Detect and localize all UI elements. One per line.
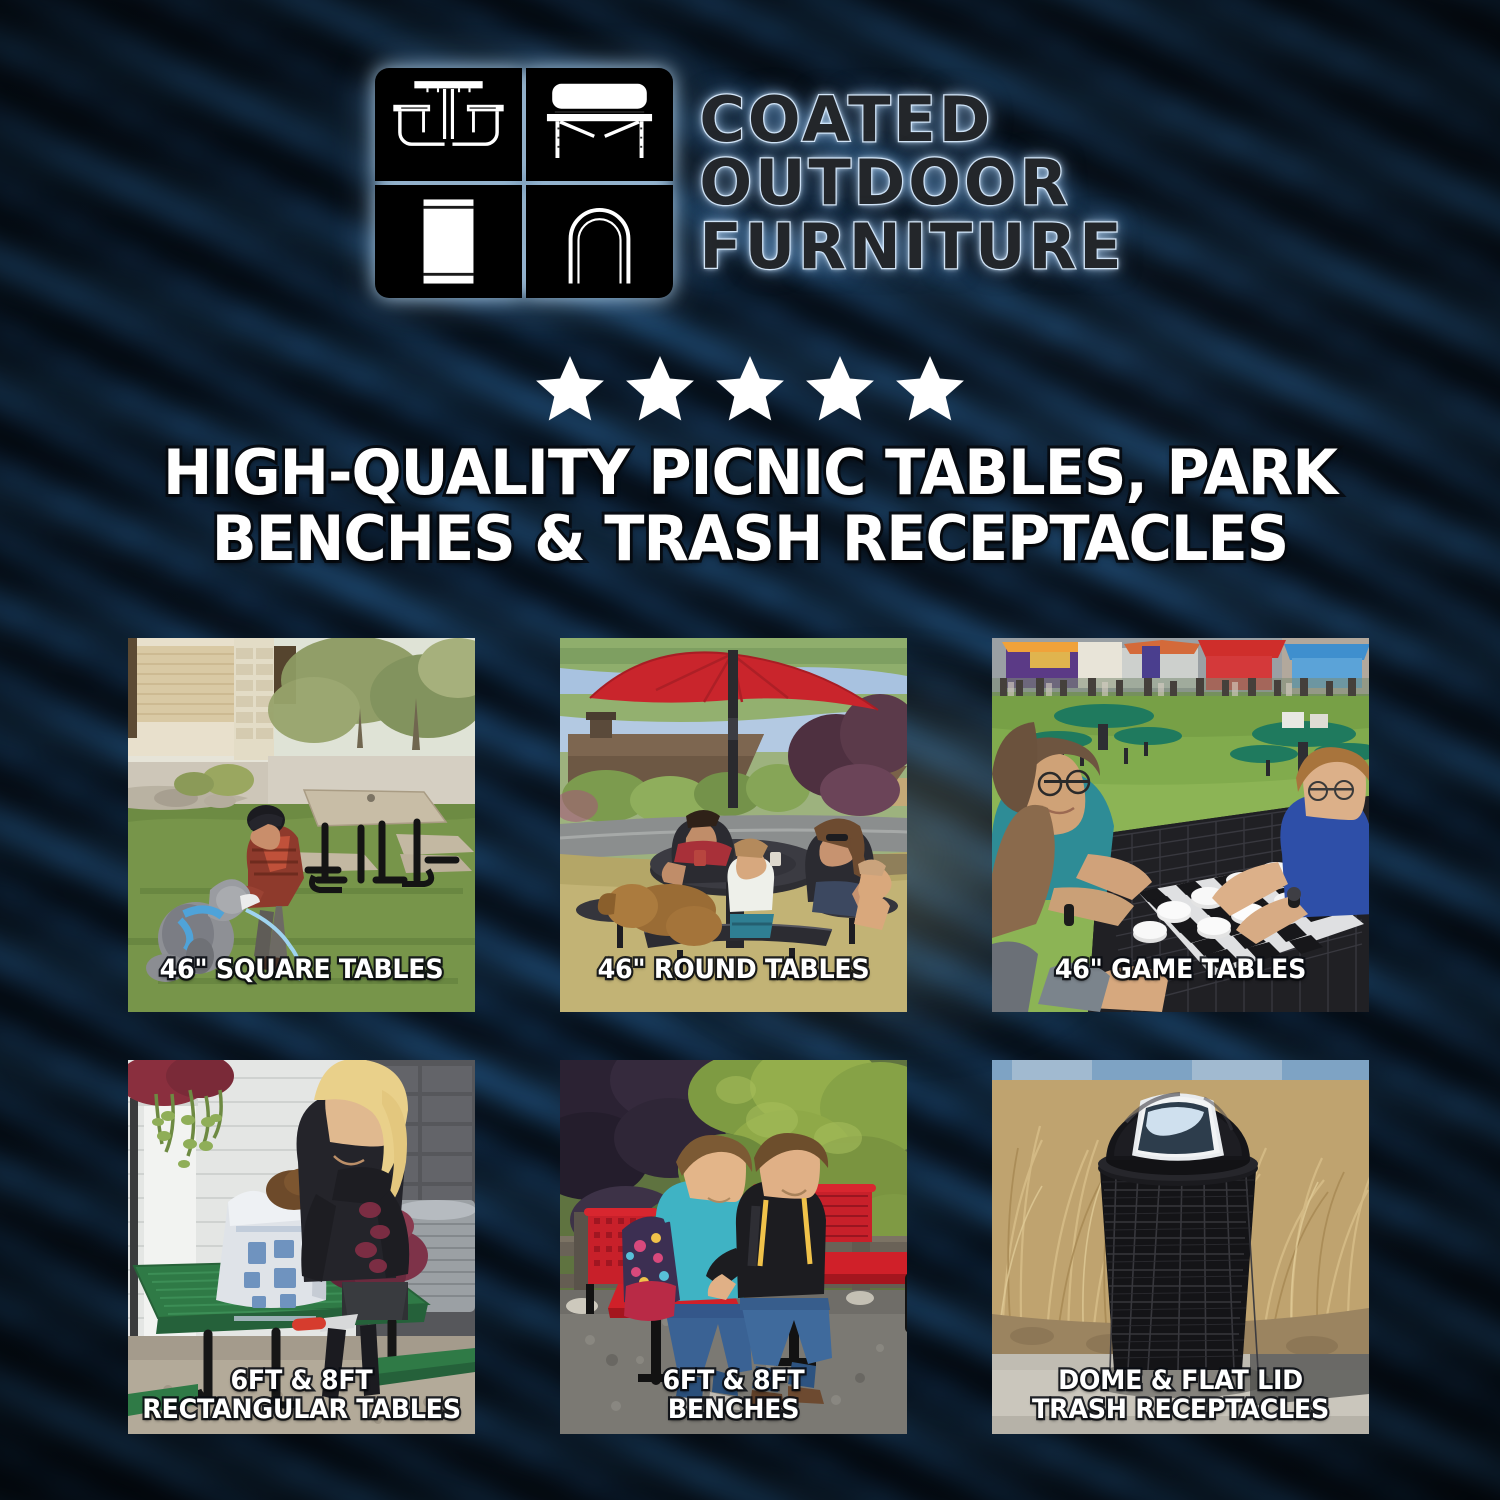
product-tile-trash-receptacles[interactable]: DOME & FLAT LID TRASH RECEPTACLES [992, 1060, 1369, 1434]
tile-caption: DOME & FLAT LID TRASH RECEPTACLES [1003, 1366, 1357, 1424]
headline-line-1: HIGH-QUALITY PICNIC TABLES, PARK [38, 440, 1463, 506]
brand-logo: COATED OUTDOOR FURNITURE [0, 68, 1500, 298]
tile-caption-line-1: 6FT & 8FT [231, 1365, 373, 1396]
product-tile-grid: 46" SQUARE TABLES [128, 638, 1372, 1434]
star-rating [0, 352, 1500, 426]
tile-caption-line-2: BENCHES [668, 1394, 799, 1425]
tile-caption: 6FT & 8FT RECTANGULAR TABLES [138, 1366, 464, 1424]
park-bench-icon [526, 68, 673, 181]
brand-line-3: FURNITURE [699, 216, 1124, 277]
product-tile-square-tables[interactable]: 46" SQUARE TABLES [128, 638, 475, 1012]
tile-caption-line-1: DOME & FLAT LID [1058, 1365, 1303, 1396]
bike-rack-icon [526, 185, 673, 298]
logo-icon-grid [375, 68, 673, 298]
star-icon [891, 352, 969, 426]
star-icon [801, 352, 879, 426]
brand-name: COATED OUTDOOR FURNITURE [699, 89, 1124, 277]
brand-line-1: COATED [699, 89, 1124, 150]
tile-caption: 46" GAME TABLES [1003, 955, 1357, 984]
product-tile-round-tables[interactable]: 46" ROUND TABLES [560, 638, 907, 1012]
star-icon [531, 352, 609, 426]
tile-caption-line-2: TRASH RECEPTACLES [1032, 1394, 1329, 1425]
tile-caption-line-1: 6FT & 8FT [663, 1365, 805, 1396]
tile-caption-line-2: RECTANGULAR TABLES [142, 1394, 460, 1425]
star-icon [621, 352, 699, 426]
product-tile-rectangular-tables[interactable]: 6FT & 8FT RECTANGULAR TABLES [128, 1060, 475, 1434]
picnic-table-icon [375, 68, 522, 181]
product-tile-game-tables[interactable]: 46" GAME TABLES [992, 638, 1369, 1012]
trash-receptacle-icon [375, 185, 522, 298]
page-headline: HIGH-QUALITY PICNIC TABLES, PARK BENCHES… [38, 440, 1463, 571]
product-tile-benches[interactable]: 6FT & 8FT BENCHES [560, 1060, 907, 1434]
tile-caption: 46" SQUARE TABLES [138, 955, 464, 984]
headline-line-2: BENCHES & TRASH RECEPTACLES [38, 506, 1463, 572]
brand-line-2: OUTDOOR [699, 152, 1124, 213]
tile-caption: 6FT & 8FT BENCHES [570, 1366, 896, 1424]
star-icon [711, 352, 789, 426]
tile-caption: 46" ROUND TABLES [570, 955, 896, 984]
